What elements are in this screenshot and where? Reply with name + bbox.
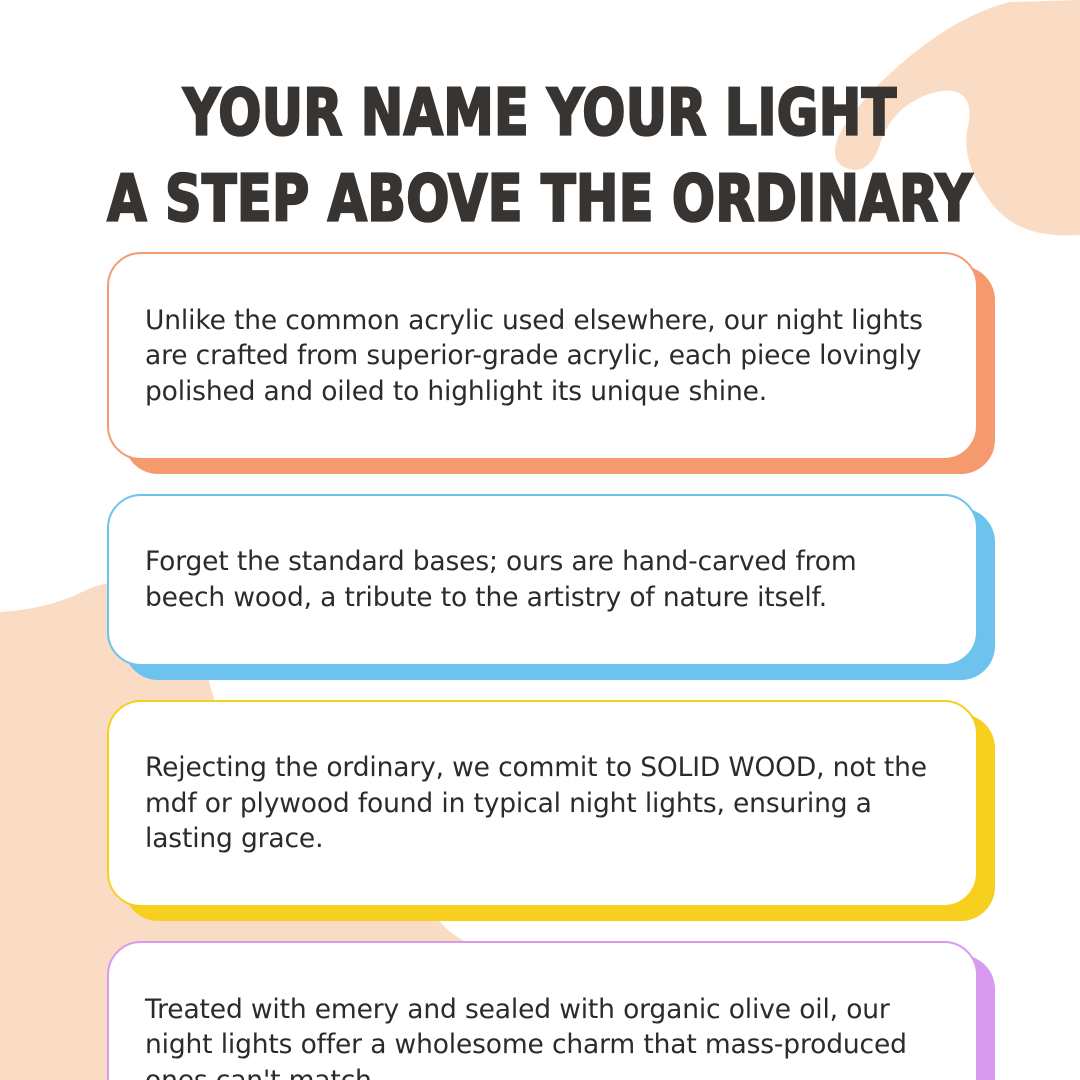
card-text-olive-oil-finish: Treated with emery and sealed with organ… (109, 970, 976, 1080)
card-face-acrylic: Unlike the common acrylic used elsewhere… (107, 252, 978, 460)
card-text-solid-wood: Rejecting the ordinary, we commit to SOL… (109, 728, 976, 879)
feature-card-list: Unlike the common acrylic used elsewhere… (0, 252, 1080, 1080)
headline-line-1: YOUR NAME YOUR LIGHT (0, 72, 1080, 155)
headline-line-2: A STEP ABOVE THE ORDINARY (0, 158, 1080, 241)
feature-card-solid-wood: Rejecting the ordinary, we commit to SOL… (107, 700, 978, 908)
card-face-olive-oil-finish: Treated with emery and sealed with organ… (107, 941, 978, 1080)
card-text-acrylic: Unlike the common acrylic used elsewhere… (109, 281, 976, 432)
page-title: YOUR NAME YOUR LIGHT A STEP ABOVE THE OR… (0, 72, 1080, 228)
feature-card-beech-wood-base: Forget the standard bases; ours are hand… (107, 494, 978, 666)
poster-canvas: YOUR NAME YOUR LIGHT A STEP ABOVE THE OR… (0, 0, 1080, 1080)
card-text-beech-wood-base: Forget the standard bases; ours are hand… (109, 522, 976, 637)
card-face-solid-wood: Rejecting the ordinary, we commit to SOL… (107, 700, 978, 908)
feature-card-olive-oil-finish: Treated with emery and sealed with organ… (107, 941, 978, 1080)
feature-card-acrylic: Unlike the common acrylic used elsewhere… (107, 252, 978, 460)
card-face-beech-wood-base: Forget the standard bases; ours are hand… (107, 494, 978, 666)
